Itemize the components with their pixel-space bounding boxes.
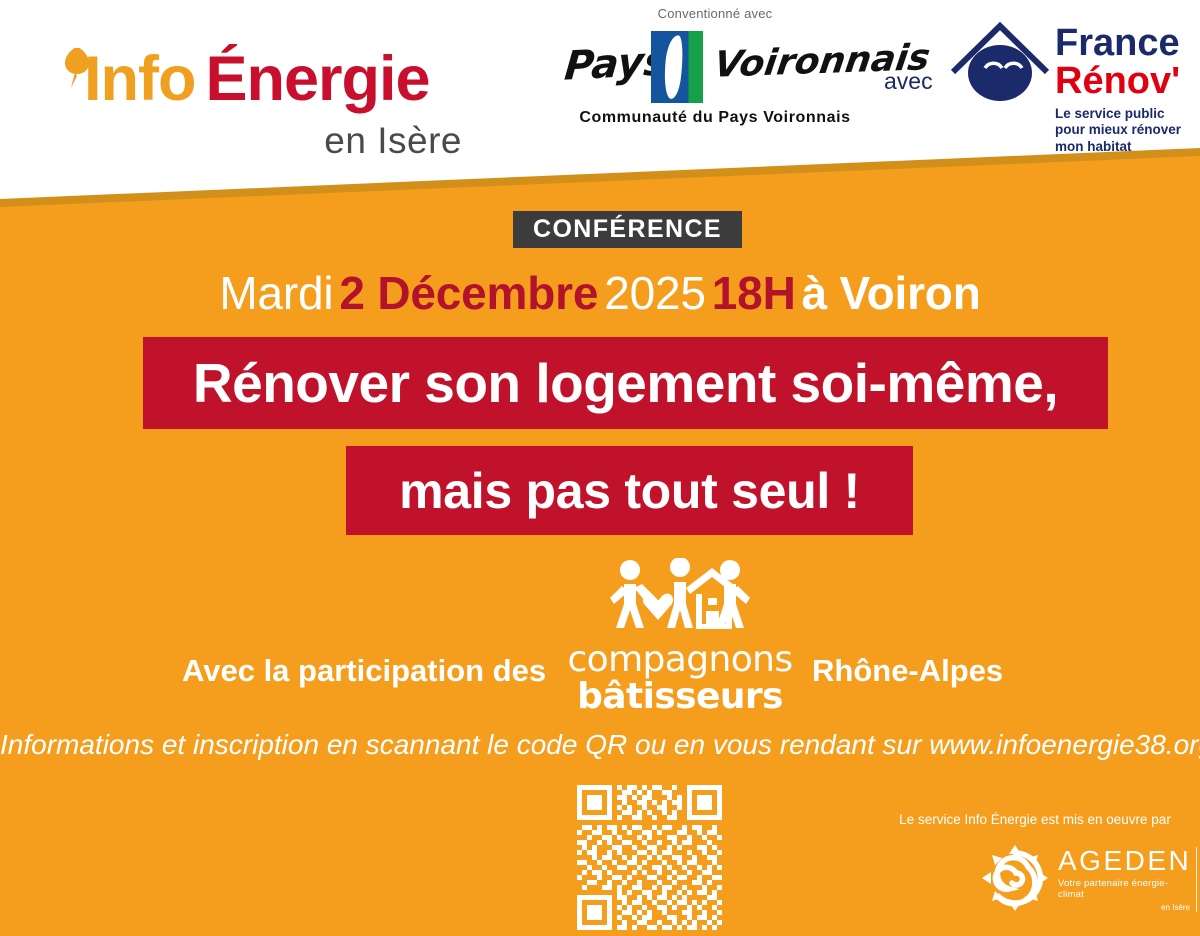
france-renov-line2: Rénov' bbox=[1055, 62, 1190, 101]
registration-info-line: Informations et inscription en scannant … bbox=[0, 729, 1200, 761]
participation-suffix: Rhône-Alpes bbox=[812, 653, 1003, 689]
title-banner-line2: mais pas tout seul ! bbox=[346, 446, 913, 535]
conference-badge: CONFÉRENCE bbox=[513, 211, 742, 248]
participation-prefix: Avec la participation des bbox=[182, 653, 546, 689]
date-day: Mardi bbox=[219, 267, 333, 319]
ageden-wordmark: AGEDEN Votre partenaire énergie-climat e… bbox=[1058, 847, 1197, 912]
info-energie-word-info: Info bbox=[84, 44, 195, 114]
pays-voironnais-flag-icon bbox=[651, 31, 703, 103]
info-energie-wordmark: InfoÉnergie bbox=[84, 48, 430, 111]
date-year: 2025 bbox=[604, 267, 706, 319]
date-highlight: 2 Décembre bbox=[339, 267, 598, 319]
france-renov-tagline: Le service public pour mieux rénover mon… bbox=[1055, 106, 1190, 155]
three-figures-house-icon bbox=[600, 558, 760, 636]
spiral-sun-icon bbox=[976, 839, 1054, 917]
ageden-logo-block: Le service Info Énergie est mis en oeuvr… bbox=[880, 812, 1190, 932]
france-renov-logo: France Rénov' Le service public pour mie… bbox=[945, 18, 1190, 143]
poster-canvas: InfoÉnergie en Isère Conventionné avec P… bbox=[0, 0, 1200, 936]
info-energie-logo: InfoÉnergie en Isère bbox=[62, 30, 462, 165]
ageden-kicker: Le service Info Énergie est mis en oeuvr… bbox=[880, 812, 1190, 827]
ageden-name: AGEDEN bbox=[1058, 847, 1190, 875]
info-energie-subtitle: en Isère bbox=[324, 120, 462, 162]
batisseurs-line2: bâtisseurs bbox=[560, 678, 800, 715]
france-renov-line1: France bbox=[1055, 24, 1190, 62]
pays-voironnais-mark: Pays Voironnais bbox=[565, 29, 865, 105]
pays-voironnais-name: Communauté du Pays Voironnais bbox=[565, 109, 865, 127]
ageden-sub: en Isère bbox=[1058, 903, 1190, 912]
ageden-tagline: Votre partenaire énergie-climat bbox=[1058, 878, 1190, 900]
event-date-line: Mardi2 Décembre202518Hà Voiron bbox=[0, 266, 1200, 320]
house-roof-icon bbox=[945, 20, 1055, 105]
ageden-logo: AGEDEN Votre partenaire énergie-climat e… bbox=[880, 839, 1190, 923]
qr-code[interactable] bbox=[577, 785, 722, 930]
info-energie-word-energie: Énergie bbox=[205, 44, 429, 114]
conventionne-avec-label: Conventionné avec bbox=[565, 6, 865, 21]
title-banner-line1: Rénover son logement soi-même, bbox=[143, 337, 1108, 429]
date-place: à Voiron bbox=[802, 267, 981, 319]
avec-label: avec bbox=[884, 68, 933, 95]
date-time: 18H bbox=[712, 267, 796, 319]
compagnons-line1: compagnons bbox=[560, 641, 800, 678]
france-renov-wordmark: France Rénov' Le service public pour mie… bbox=[1055, 24, 1190, 155]
compagnons-batisseurs-logo: compagnons bâtisseurs bbox=[560, 558, 800, 708]
pays-voironnais-logo: Conventionné avec Pays Voironnais Commun… bbox=[565, 6, 865, 146]
